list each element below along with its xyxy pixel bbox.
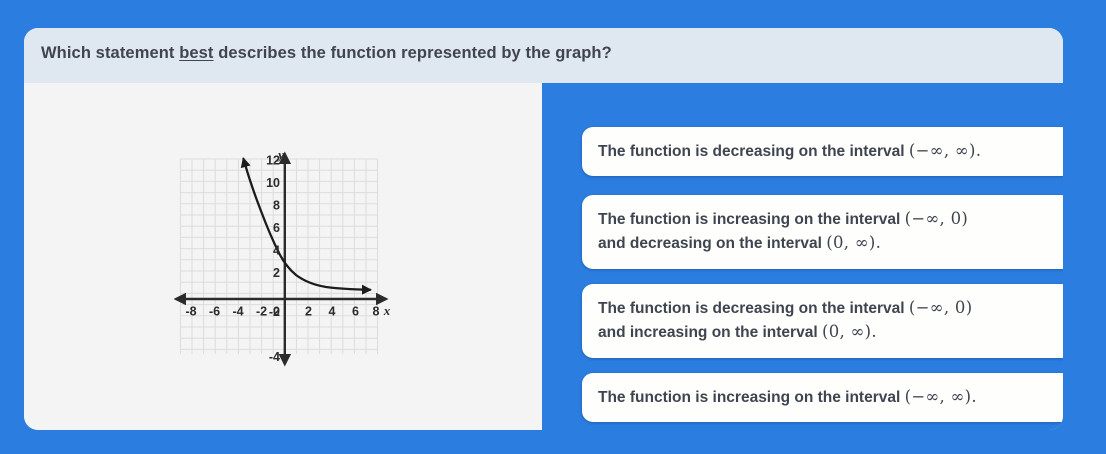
prompt-emphasis-best: best [179,44,213,62]
option-2-line1-math: (−∞, 0) [905,209,969,228]
x-tick-labels: -8 -6 -4 -2 2 4 6 8 [185,305,379,319]
question-card: Which statement best describes the funct… [24,28,1063,430]
answer-option-1[interactable]: The function is decreasing on the interv… [582,127,1063,176]
option-4-line1-text: The function is increasing on the interv… [598,389,905,406]
option-4-line1-math: (−∞, ∞). [905,387,977,406]
x-tick-n6: -6 [209,305,220,319]
option-3-line1-text: The function is decreasing on the interv… [598,300,909,317]
x-tick-n4: -4 [232,305,243,319]
option-1-line1-text: The function is decreasing on the interv… [598,143,909,160]
y-tick-2: 2 [273,266,280,280]
prompt-band: Which statement best describes the funct… [24,28,1063,83]
function-graph: 12 10 8 6 4 2 -2 -4 0 -8 -6 -4 -2 [174,149,419,384]
answer-option-4[interactable]: The function is increasing on the interv… [582,373,1063,422]
option-3-line1-math: (−∞, 0) [909,298,973,317]
origin-label: 0 [273,305,280,319]
y-tick-6: 6 [273,221,280,235]
x-tick-6: 6 [352,305,359,319]
question-prompt: Which statement best describes the funct… [41,44,612,63]
prompt-text-after: describes the function represented by th… [214,44,612,62]
y-tick-4: 4 [273,244,280,258]
x-tick-4: 4 [329,305,336,319]
option-2-line2-text: and decreasing on the interval [598,235,826,252]
option-1-line1-math: (−∞, ∞). [909,141,981,160]
option-3-line2-text: and increasing on the interval [598,324,822,341]
y-tick-8: 8 [273,199,280,213]
x-tick-n2: -2 [256,305,267,319]
x-axis-label: x [383,303,391,318]
prompt-text-before: Which statement [41,44,179,62]
y-tick-n4: -4 [269,350,280,364]
function-curve [244,159,371,290]
answer-option-3[interactable]: The function is decreasing on the interv… [582,284,1063,358]
x-tick-2: 2 [305,305,312,319]
answer-option-2[interactable]: The function is increasing on the interv… [582,195,1063,269]
x-tick-n8: -8 [185,305,196,319]
options-panel: The function is decreasing on the interv… [542,83,1063,430]
x-tick-8: 8 [373,305,380,319]
graph-panel: 12 10 8 6 4 2 -2 -4 0 -8 -6 -4 -2 [24,83,542,430]
option-2-line2-math: (0, ∞). [826,233,881,252]
y-axis-label: y [276,149,284,162]
y-tick-10: 10 [266,176,280,190]
option-2-line1-text: The function is increasing on the interv… [598,211,905,228]
option-3-line2-math: (0, ∞). [822,322,877,341]
